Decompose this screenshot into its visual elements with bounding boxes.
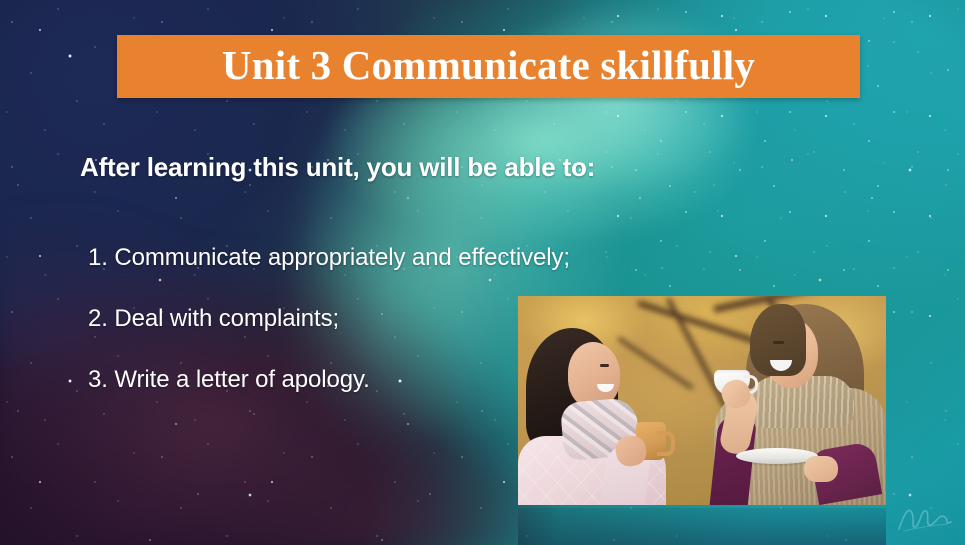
- woman-left-eye: [600, 364, 609, 367]
- photo-reflection: [518, 508, 886, 545]
- list-item: 1. Communicate appropriately and effecti…: [88, 244, 728, 272]
- slide-title: Unit 3 Communicate skillfully: [222, 45, 755, 86]
- woman-right-hand-lower: [804, 456, 838, 482]
- slide-subtitle: After learning this unit, you will be ab…: [80, 152, 595, 183]
- signature-watermark-icon: [895, 501, 955, 537]
- photo-scene: [518, 296, 886, 505]
- title-banner: Unit 3 Communicate skillfully: [117, 35, 860, 98]
- photo-two-women-talking: [518, 296, 886, 505]
- woman-right-eye: [773, 341, 784, 344]
- presentation-slide: Unit 3 Communicate skillfully After lear…: [0, 0, 965, 545]
